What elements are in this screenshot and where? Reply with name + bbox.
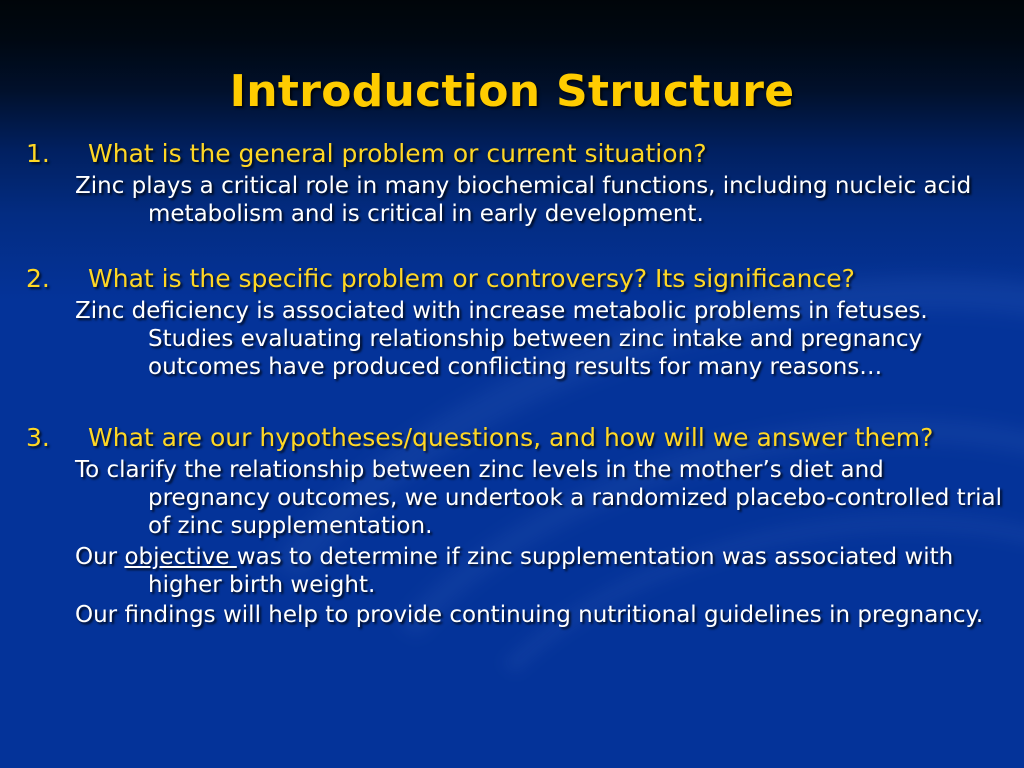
- question-text-1: What is the general problem or current s…: [88, 139, 707, 170]
- answer-paragraph-1-1: Zinc plays a critical role in many bioch…: [26, 172, 1008, 229]
- slide-title: Introduction Structure: [0, 0, 1024, 117]
- question-number-3: 3.: [26, 423, 88, 454]
- answer-paragraph-3-3: Our findings will help to provide contin…: [26, 601, 1008, 629]
- slide-canvas: Introduction Structure 1. What is the ge…: [0, 0, 1024, 768]
- paragraph-pre-text: Zinc plays a critical role in many bioch…: [75, 173, 971, 227]
- question-block-1: 1. What is the general problem or curren…: [26, 139, 1008, 228]
- answer-paragraph-2-1: Zinc deficiency is associated with incre…: [26, 297, 1008, 382]
- slide-content: Introduction Structure 1. What is the ge…: [0, 0, 1024, 630]
- question-number-1: 1.: [26, 139, 88, 170]
- paragraph-pre-text: Our findings will help to provide contin…: [75, 602, 983, 628]
- question-heading-1: 1. What is the general problem or curren…: [26, 139, 1008, 170]
- block-spacer-1: [26, 234, 1008, 264]
- question-heading-2: 2. What is the specific problem or contr…: [26, 264, 1008, 295]
- paragraph-pre-text: Our: [75, 544, 124, 570]
- objective-underlined-term: objective: [124, 544, 236, 570]
- paragraph-pre-text: Zinc deficiency is associated with incre…: [75, 298, 928, 381]
- question-block-3: 3. What are our hypotheses/questions, an…: [26, 423, 1008, 629]
- question-number-2: 2.: [26, 264, 88, 295]
- question-heading-3: 3. What are our hypotheses/questions, an…: [26, 423, 1008, 454]
- answer-paragraph-3-2: Our objective was to determine if zinc s…: [26, 543, 1008, 600]
- slide-body: 1. What is the general problem or curren…: [0, 139, 1024, 630]
- answer-paragraph-3-1: To clarify the relationship between zinc…: [26, 456, 1008, 541]
- paragraph-post-text: was to determine if zinc supplementation…: [148, 544, 953, 598]
- question-text-3: What are our hypotheses/questions, and h…: [88, 423, 933, 454]
- question-block-2: 2. What is the specific problem or contr…: [26, 264, 1008, 381]
- paragraph-pre-text: To clarify the relationship between zinc…: [75, 457, 1002, 540]
- question-text-2: What is the specific problem or controve…: [88, 264, 855, 295]
- block-spacer-2: [26, 387, 1008, 423]
